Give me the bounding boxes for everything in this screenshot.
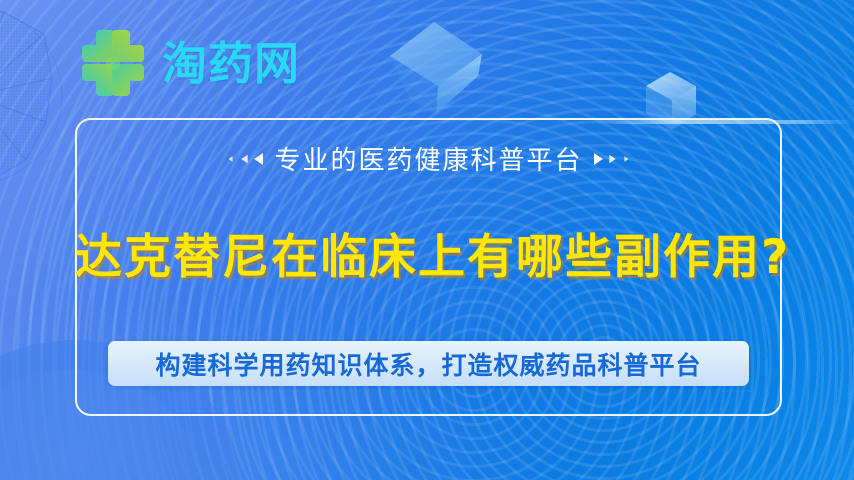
poster-canvas: 淘药网 专业的医药健康科普平台 达克替尼在临床上有哪些副作用? 构建科学用药知识… <box>0 0 854 480</box>
triangle-right-small-icon <box>624 156 628 161</box>
triangle-right-large-icon <box>594 153 603 165</box>
subtitle-right-markers <box>594 153 631 165</box>
tagline-banner: 构建科学用药知识体系，打造权威药品科普平台 <box>108 341 749 386</box>
page-title: 达克替尼在临床上有哪些副作用? <box>75 218 782 287</box>
medical-cross-logo-icon <box>76 26 150 100</box>
subtitle-row: 专业的医药健康科普平台 <box>75 140 782 177</box>
tagline-text: 构建科学用药知识体系，打造权威药品科普平台 <box>155 346 701 382</box>
subtitle-text: 专业的医药健康科普平台 <box>274 140 582 177</box>
cube-3d-large-icon <box>382 14 492 122</box>
triangle-right-medium-icon <box>609 154 615 162</box>
subtitle-left-markers <box>226 153 263 165</box>
triangle-left-large-icon <box>254 153 263 165</box>
brand-name: 淘药网 <box>162 41 300 86</box>
brand-logo: 淘药网 <box>76 26 300 100</box>
triangle-left-small-icon <box>229 156 233 161</box>
triangle-left-medium-icon <box>242 154 248 162</box>
